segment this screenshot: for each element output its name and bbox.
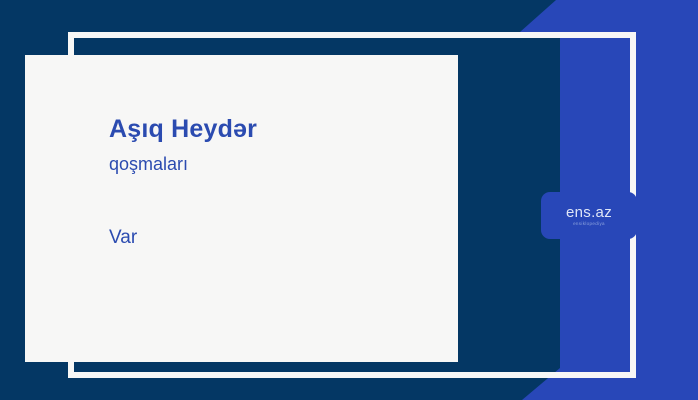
page-title: Aşıq Heydər: [109, 115, 438, 144]
content-card: Aşıq Heydər qoşmaları Var: [25, 55, 458, 362]
status-text: Var: [109, 227, 438, 250]
brand-logo-tagline: ensiklopediya: [573, 222, 605, 227]
brand-logo-badge[interactable]: ens.az ensiklopediya: [541, 192, 637, 239]
content-card-body: Aşıq Heydər qoşmaları Var: [109, 115, 438, 250]
brand-logo-text: ens.az: [566, 205, 612, 220]
page-subtitle: qoşmaları: [109, 154, 438, 176]
slide-canvas: Aşıq Heydər qoşmaları Var ens.az ensiklo…: [0, 0, 698, 400]
